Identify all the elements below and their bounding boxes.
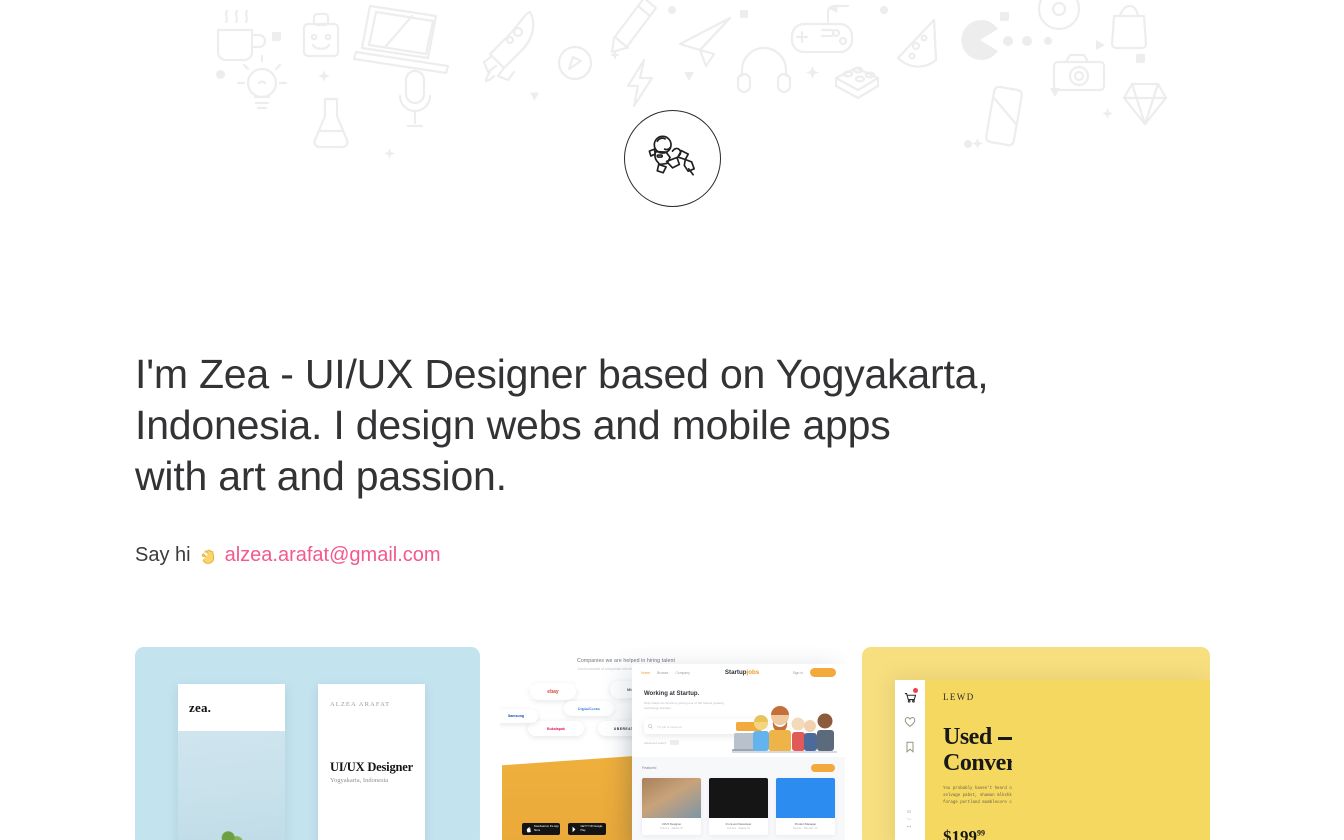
nav-item-browse[interactable]: Browse <box>657 671 668 675</box>
cd-disc-icon <box>1036 0 1082 32</box>
pencil-icon <box>608 0 660 56</box>
circle-dot-icon <box>668 6 676 14</box>
business-card-logo-text: zea. <box>189 700 211 716</box>
nav-item-home[interactable]: Home <box>641 671 650 675</box>
slide-counter: 1 / 8 <box>907 808 913 828</box>
app-promo-body: Find the best startup jobs on the go. Ap… <box>522 706 632 716</box>
google-play-badge-text: GET IT ON Google Play <box>581 825 606 832</box>
tile-subcaption: Full time · Jakarta, ID <box>642 827 701 835</box>
heart-icon[interactable] <box>904 715 916 727</box>
circle-dot-icon <box>880 6 888 14</box>
mockup-hero: Working at Startup. Help shape the futur… <box>632 681 845 757</box>
featured-see-more-button[interactable] <box>811 764 835 772</box>
cart-icon[interactable] <box>904 690 916 702</box>
waving-hand-icon <box>198 547 217 566</box>
project-card-startupjobs[interactable]: Companies we are helped in hiring talent… <box>500 647 845 840</box>
paper-plane-icon <box>676 16 734 68</box>
diamond-icon <box>1120 78 1170 128</box>
circle-dot-icon <box>964 140 972 148</box>
star-icon <box>384 148 395 159</box>
search-placeholder: Try job or keyword <box>657 725 732 729</box>
mockup-brand: Startupjobs <box>725 669 759 676</box>
plant-leaves <box>213 829 251 840</box>
triangle-icon <box>684 72 694 81</box>
tile-thumbnail <box>709 778 768 818</box>
featured-tile[interactable]: Product Manager Remote · Palo Alto, CA <box>776 778 835 835</box>
tile-caption: Front-end Developer <box>709 818 768 827</box>
project-card-converse[interactable]: 1 / 8 LEWD Used Converse. You probably h… <box>862 647 1210 840</box>
featured-tile[interactable]: UI/UX Designer Full time · Jakarta, ID <box>642 778 701 835</box>
advanced-search-dropdown[interactable] <box>670 740 679 745</box>
business-card-back: ALZEA ARAFAT UI/UX Designer Yogyakarta, … <box>318 684 425 840</box>
tile-caption: UI/UX Designer <box>642 818 701 827</box>
nav-sign-up-button[interactable] <box>810 668 836 677</box>
converse-product-photo <box>1012 680 1210 840</box>
triangle-icon <box>530 92 539 101</box>
rocket-icon <box>478 6 544 86</box>
business-card-location: Yogyakarta, Indonesia <box>330 777 425 784</box>
triangle-icon <box>828 4 838 13</box>
lego-brick-icon <box>832 62 882 104</box>
smartphone-icon <box>984 86 1026 148</box>
tile-caption: Product Manager <box>776 818 835 827</box>
nav-item-company[interactable]: Company <box>675 671 690 675</box>
featured-header: Featured <box>642 764 835 772</box>
featured-tile[interactable]: Front-end Developer Full time · Jakarta,… <box>709 778 768 835</box>
gamepad-icon <box>788 2 858 60</box>
headline-line-2: with art and passion. <box>135 451 1145 502</box>
app-store-badge[interactable]: Download on the App Store <box>522 823 560 835</box>
converse-browser-mockup: 1 / 8 LEWD Used Converse. You probably h… <box>895 680 1210 840</box>
astronaut-logo-icon <box>643 129 702 188</box>
lightning-bolt-icon <box>624 58 656 108</box>
laptop-icon <box>350 2 460 74</box>
converse-price: $19999 <box>943 827 985 840</box>
nav-sign-in[interactable]: Sign in <box>793 671 803 675</box>
triangle-icon <box>1096 40 1105 50</box>
company-logo-chip: Bukalapak <box>528 721 584 736</box>
coffee-mug-icon <box>210 8 274 68</box>
pizza-slice-icon <box>892 16 944 74</box>
page-title: I'm Zea - UI/UX Designer based on Yogyak… <box>135 349 1145 502</box>
converse-side-rail: 1 / 8 <box>895 680 925 840</box>
people-illustration <box>732 699 837 755</box>
lego-head-icon <box>300 12 342 62</box>
square-dot-icon <box>740 10 748 18</box>
business-card-name: ALZEA ARAFAT <box>330 701 425 708</box>
tile-thumbnail <box>642 778 701 818</box>
hero-title: Working at Startup. <box>644 691 845 697</box>
tile-subcaption: Remote · Palo Alto, CA <box>776 827 835 835</box>
cart-badge <box>913 688 918 693</box>
play-icon <box>572 826 578 833</box>
star-icon <box>610 50 620 60</box>
advanced-search-label: Advanced search <box>644 741 666 745</box>
site-logo[interactable] <box>624 110 721 207</box>
star-icon <box>318 70 330 82</box>
app-store-badge-text: Download on the App Store <box>534 825 560 832</box>
tile-subcaption: Full time · Jakarta, ID <box>709 827 768 835</box>
hero-body: Help shape the future by joining one of … <box>644 701 739 710</box>
star-icon <box>972 138 983 149</box>
bookmark-icon[interactable] <box>904 740 916 752</box>
project-card-grid: zea. ALZEA ARAFAT UI/UX Designer Yogyaka… <box>135 647 1210 840</box>
search-icon <box>648 724 653 729</box>
tile-thumbnail <box>776 778 835 818</box>
navbar-actions: Sign in <box>793 668 836 677</box>
compass-icon <box>556 44 594 82</box>
app-promo-title: Download our free App. And find jobs in … <box>522 683 628 703</box>
pacman-dots-icon <box>1002 34 1058 48</box>
business-card-front-header: zea. <box>178 684 285 731</box>
headphones-icon <box>736 44 792 94</box>
triangle-icon <box>1050 88 1060 97</box>
camera-icon <box>1052 52 1106 94</box>
contact-line: Say hi alzea.arafat@gmail.com <box>135 542 441 568</box>
email-link[interactable]: alzea.arafat@gmail.com <box>225 542 441 568</box>
business-card-role: UI/UX Designer <box>330 760 425 775</box>
lightbulb-icon <box>232 55 292 117</box>
square-dot-icon <box>272 32 281 41</box>
star-icon <box>1102 108 1113 119</box>
featured-label: Featured <box>642 766 656 770</box>
mockup-navbar: Home Browse Company Startupjobs Sign in <box>632 664 845 681</box>
star-icon <box>806 66 819 79</box>
business-card-front: zea. <box>178 684 285 840</box>
business-card-photo <box>178 731 285 840</box>
featured-tiles: UI/UX Designer Full time · Jakarta, ID F… <box>642 778 835 835</box>
converse-brand: LEWD <box>943 692 975 702</box>
pacman-icon <box>960 20 1000 60</box>
apple-icon <box>526 826 531 833</box>
startupjobs-front-mockup: Home Browse Company Startupjobs Sign in … <box>632 664 845 840</box>
square-dot-icon <box>1136 54 1145 63</box>
project-card-business-card[interactable]: zea. ALZEA ARAFAT UI/UX Designer Yogyaka… <box>135 647 480 840</box>
paper-bag-icon <box>1108 4 1150 50</box>
circle-dot-icon <box>216 70 225 79</box>
microphone-icon <box>394 68 436 132</box>
google-play-badge[interactable]: GET IT ON Google Play <box>568 823 606 835</box>
square-dot-icon <box>1000 12 1009 21</box>
say-hi-label: Say hi <box>135 542 191 568</box>
flask-icon <box>310 95 352 151</box>
headline-line-1: I'm Zea - UI/UX Designer based on Yogyak… <box>135 349 1145 451</box>
featured-section: Featured UI/UX Designer Full time · Jaka… <box>632 757 845 840</box>
portfolio-page: I'm Zea - UI/UX Designer based on Yogyak… <box>0 0 1344 840</box>
